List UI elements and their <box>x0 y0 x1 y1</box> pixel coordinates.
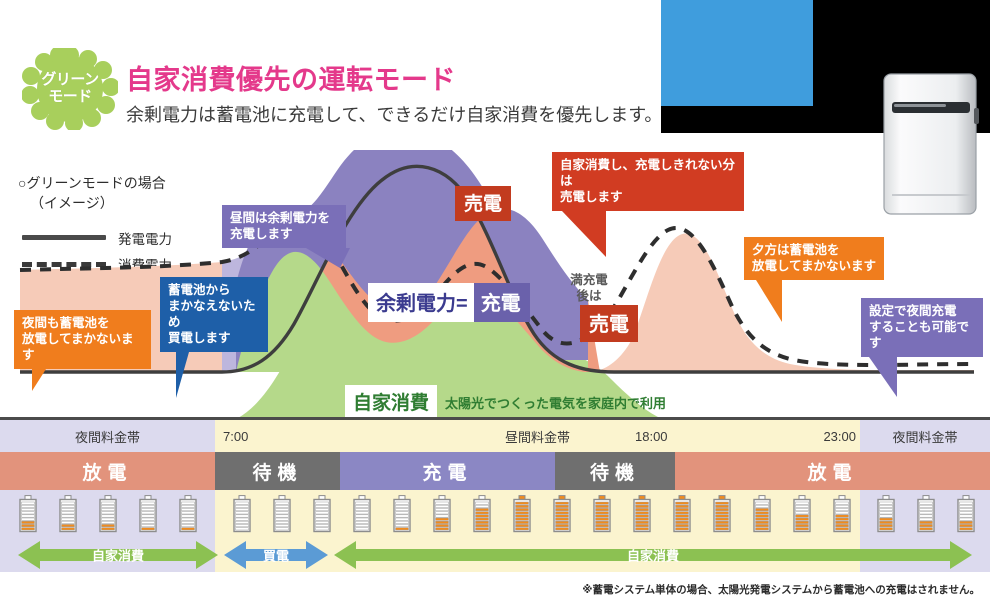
callout-tail <box>756 280 782 322</box>
battery-icon <box>138 495 158 533</box>
battery-icon <box>752 495 772 533</box>
callout-evening-discharge: 夕方は蓄電池を 放電してまかないます <box>744 237 884 280</box>
operation-mode-band: 放電 待機 充電 待機 放電 <box>0 452 990 490</box>
callout-night-charge-option: 設定で夜間充電 することも可能です <box>861 298 983 357</box>
battery-icon <box>956 495 976 533</box>
tariff-label: 昼間料金帯 <box>505 427 570 446</box>
surplus-text: 余剰電力= <box>368 283 474 322</box>
tariff-tick-1800: 18:00 <box>635 429 668 444</box>
battery-icon <box>632 495 652 533</box>
battery-icon <box>272 495 292 533</box>
tariff-label: 夜間料金帯 <box>75 427 140 446</box>
chart-label-sell-after-full: 売電 <box>580 305 638 342</box>
battery-icon <box>472 495 492 533</box>
callout-daytime-charge: 昼間は余剰電力を 充電します <box>222 205 346 248</box>
callout-line: 充電します <box>230 226 338 242</box>
mode-segment-discharge-evening: 放電 <box>675 452 990 490</box>
battery-icon <box>58 495 78 533</box>
self-consumption-note: 太陽光でつくった電気を家庭内で利用 <box>445 393 666 412</box>
arrow-label-self-consumption-day: 自家消費 <box>334 546 972 565</box>
battery-icon <box>392 495 412 533</box>
energy-source-arrow-band: 自家消費 買電 自家消費 <box>0 538 990 572</box>
battery-icon <box>232 495 252 533</box>
arrow-label-buy-power: 買電 <box>224 546 328 565</box>
badge-line-2: モード <box>48 89 92 106</box>
callout-line: 自家消費し、充電しきれない分は <box>560 157 736 189</box>
tariff-label: 夜間料金帯 <box>892 427 957 446</box>
battery-icon <box>916 495 936 533</box>
battery-icon <box>792 495 812 533</box>
chart-label-self-consumption: 自家消費 太陽光でつくった電気を家庭内で利用 <box>345 385 666 420</box>
mode-segment-idle-evening: 待機 <box>555 452 675 490</box>
callout-tail <box>869 357 897 397</box>
mode-label: 放電 <box>807 458 857 485</box>
callout-tail <box>306 248 350 268</box>
battery-icon <box>178 495 198 533</box>
battery-icon <box>432 495 452 533</box>
battery-icon <box>876 495 896 533</box>
full-charge-line-1: 満充電 <box>557 272 621 288</box>
callout-line: 放電してまかないます <box>22 331 143 363</box>
chart-label-full-charge-note: 満充電 後は <box>557 272 621 305</box>
footnote: ※蓄電システム単体の場合、太陽光発電システムから蓄電池への充電はされません。 <box>582 582 980 597</box>
mode-segment-charge: 充電 <box>340 452 555 490</box>
callout-line: することも可能です <box>869 319 975 351</box>
mode-label: 充電 <box>422 458 472 485</box>
tariff-segment-night-early: 夜間料金帯 <box>0 420 215 452</box>
mode-label: 待機 <box>590 458 640 485</box>
arrow-label-self-consumption-night: 自家消費 <box>18 546 218 565</box>
charge-text: 充電 <box>474 283 530 322</box>
callout-line: 設定で夜間充電 <box>869 303 975 319</box>
battery-icon <box>18 495 38 533</box>
chart-label-sell-top: 売電 <box>455 186 511 221</box>
full-charge-line-2: 後は <box>557 288 621 304</box>
green-mode-badge-text: グリーン モード <box>22 48 118 130</box>
battery-icon <box>352 495 372 533</box>
callout-tail <box>562 211 606 257</box>
battery-icon <box>312 495 332 533</box>
mode-segment-idle-morning: 待機 <box>215 452 340 490</box>
callout-line: まかなえないため <box>168 298 260 330</box>
badge-line-1: グリーン <box>41 72 98 89</box>
tariff-segment-night-late: 夜間料金帯 <box>860 420 990 452</box>
battery-icon <box>712 495 732 533</box>
callout-line: 蓄電池から <box>168 282 260 298</box>
page-subtitle: 余剰電力は蓄電池に充電して、できるだけ自家消費を優先します。 <box>126 101 662 127</box>
battery-level-band <box>0 490 990 538</box>
callout-tail <box>176 352 189 398</box>
callout-sell-surplus: 自家消費し、充電しきれない分は 売電します <box>552 152 744 211</box>
callout-line: 夕方は蓄電池を <box>752 242 876 258</box>
tariff-band: 夜間料金帯 7:00 昼間料金帯 18:00 23:00 夜間料金帯 <box>0 420 990 452</box>
battery-icon <box>98 495 118 533</box>
chart-label-surplus-equals-charge: 余剰電力= 充電 <box>368 283 530 322</box>
battery-icon <box>832 495 852 533</box>
tariff-tick-2300: 23:00 <box>823 429 856 444</box>
battery-icon <box>592 495 612 533</box>
callout-line: 買電します <box>168 330 260 346</box>
callout-line: 夜間も蓄電池を <box>22 315 143 331</box>
tariff-tick-0700: 7:00 <box>223 429 248 444</box>
callout-buy-power: 蓄電池から まかなえないため 買電します <box>160 277 268 352</box>
battery-icon <box>552 495 572 533</box>
callout-line: 放電してまかないます <box>752 258 876 274</box>
battery-icon <box>512 495 532 533</box>
self-consumption-badge: 自家消費 <box>345 385 437 420</box>
mode-label: 待機 <box>252 458 302 485</box>
mode-label: 放電 <box>82 458 132 485</box>
mode-segment-discharge-night: 放電 <box>0 452 215 490</box>
tariff-segment-day: 7:00 昼間料金帯 18:00 23:00 <box>215 420 860 452</box>
callout-line: 売電します <box>560 189 736 205</box>
callout-night-discharge: 夜間も蓄電池を 放電してまかないます <box>14 310 151 369</box>
battery-icon <box>672 495 692 533</box>
page-title: 自家消費優先の運転モード <box>126 58 456 97</box>
green-mode-badge: グリーン モード <box>22 48 118 130</box>
callout-tail <box>32 369 46 391</box>
callout-line: 昼間は余剰電力を <box>230 210 338 226</box>
